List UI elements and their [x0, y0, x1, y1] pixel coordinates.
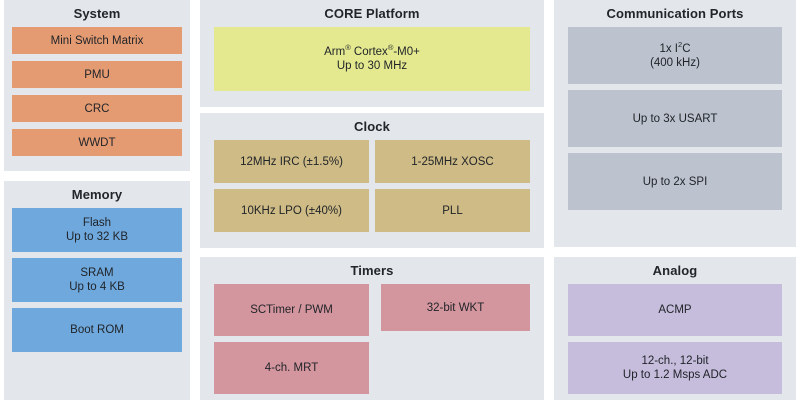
block-wwdt[interactable]: WWDT [12, 129, 182, 156]
block-label: WWDT [78, 136, 115, 150]
panel-blocks-core-platform: Arm® Cortex®-M0+Up to 30 MHz [208, 27, 536, 99]
block-i2c[interactable]: 1x I2C(400 kHz) [568, 27, 782, 84]
block-label: Mini Switch Matrix [51, 34, 144, 48]
block-4ch-mrt[interactable]: 4-ch. MRT [214, 342, 369, 394]
panel-title-timers: Timers [200, 257, 544, 278]
panel-blocks-clock: 12MHz IRC (±1.5%) 1-25MHz XOSC 10KHz LPO… [208, 140, 536, 240]
block-32bit-wkt[interactable]: 32-bit WKT [381, 284, 530, 331]
panel-title-analog: Analog [554, 257, 796, 278]
block-pll[interactable]: PLL [375, 189, 530, 232]
panel-blocks-system: Mini Switch Matrix PMU CRC WWDT [12, 27, 182, 163]
block-label: SCTimer / PWM [250, 303, 333, 317]
block-label: 10KHz LPO (±40%) [241, 204, 342, 218]
block-label: PMU [84, 68, 110, 82]
block-label: ACMP [658, 303, 691, 317]
panel-title-core-platform: CORE Platform [200, 0, 544, 21]
panel-title-communication-ports: Communication Ports [554, 0, 796, 21]
panel-title-clock: Clock [200, 113, 544, 134]
panel-title-memory: Memory [4, 181, 190, 202]
block-spi[interactable]: Up to 2x SPI [568, 153, 782, 210]
block-diagram: System Mini Switch Matrix PMU CRC WWDT M… [0, 0, 800, 400]
block-label: Up to 2x SPI [643, 175, 708, 189]
panel-analog: Analog ACMP 12-ch., 12-bit Up to 1.2 Msp… [554, 257, 796, 400]
block-pmu[interactable]: PMU [12, 61, 182, 88]
block-mini-switch-matrix[interactable]: Mini Switch Matrix [12, 27, 182, 54]
block-label: 1-25MHz XOSC [411, 155, 493, 169]
block-flash[interactable]: Flash Up to 32 KB [12, 208, 182, 252]
panel-memory: Memory Flash Up to 32 KB SRAM Up to 4 KB… [4, 181, 190, 400]
block-label: SRAM Up to 4 KB [69, 266, 125, 294]
block-arm-cortex-m0plus[interactable]: Arm® Cortex®-M0+Up to 30 MHz [214, 27, 530, 91]
block-crc[interactable]: CRC [12, 95, 182, 122]
block-label: Up to 3x USART [633, 112, 718, 126]
block-label: 12-ch., 12-bit Up to 1.2 Msps ADC [623, 354, 727, 382]
block-label: Boot ROM [70, 323, 124, 337]
panel-blocks-timers: SCTimer / PWM 32-bit WKT 4-ch. MRT [208, 284, 536, 392]
block-label: Flash Up to 32 KB [66, 216, 128, 244]
block-boot-rom[interactable]: Boot ROM [12, 308, 182, 352]
block-label: Arm® Cortex®-M0+Up to 30 MHz [324, 45, 420, 73]
panel-clock: Clock 12MHz IRC (±1.5%) 1-25MHz XOSC 10K… [200, 113, 544, 248]
block-sram[interactable]: SRAM Up to 4 KB [12, 258, 182, 302]
block-adc[interactable]: 12-ch., 12-bit Up to 1.2 Msps ADC [568, 342, 782, 394]
block-acmp[interactable]: ACMP [568, 284, 782, 336]
panel-blocks-analog: ACMP 12-ch., 12-bit Up to 1.2 Msps ADC [562, 284, 788, 392]
panel-timers: Timers SCTimer / PWM 32-bit WKT 4-ch. MR… [200, 257, 544, 400]
block-sctimer-pwm[interactable]: SCTimer / PWM [214, 284, 369, 336]
block-label: 32-bit WKT [427, 301, 485, 315]
panel-communication-ports: Communication Ports 1x I2C(400 kHz) Up t… [554, 0, 796, 247]
panel-core-platform: CORE Platform Arm® Cortex®-M0+Up to 30 M… [200, 0, 544, 107]
panel-title-system: System [4, 0, 190, 21]
block-12mhz-irc[interactable]: 12MHz IRC (±1.5%) [214, 140, 369, 183]
block-10khz-lpo[interactable]: 10KHz LPO (±40%) [214, 189, 369, 232]
block-label: 1x I2C(400 kHz) [650, 42, 700, 70]
block-label: 4-ch. MRT [265, 361, 318, 375]
block-label: PLL [442, 204, 462, 218]
panel-blocks-memory: Flash Up to 32 KB SRAM Up to 4 KB Boot R… [12, 208, 182, 392]
block-label: CRC [85, 102, 110, 116]
panel-system: System Mini Switch Matrix PMU CRC WWDT [4, 0, 190, 171]
panel-blocks-communication-ports: 1x I2C(400 kHz) Up to 3x USART Up to 2x … [562, 27, 788, 239]
block-usart[interactable]: Up to 3x USART [568, 90, 782, 147]
block-xosc[interactable]: 1-25MHz XOSC [375, 140, 530, 183]
block-label: 12MHz IRC (±1.5%) [240, 155, 343, 169]
